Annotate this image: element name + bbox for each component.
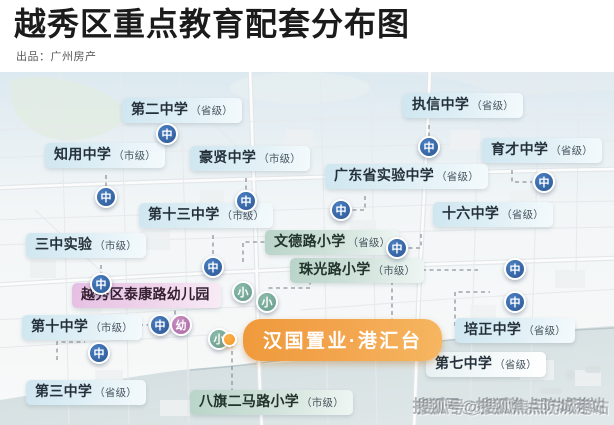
marker-glyph: 中 <box>510 294 521 310</box>
school-name: 培正中学 <box>464 321 521 337</box>
marker-glyph: 小 <box>238 284 249 300</box>
school-name: 执信中学 <box>412 96 469 112</box>
label-school-4[interactable]: 育才中学（省级） <box>482 138 602 163</box>
label-school-2[interactable]: 豪贤中学（市级） <box>190 146 310 171</box>
label-school-13[interactable]: 培正中学（省级） <box>455 318 575 343</box>
marker-middle-school[interactable]: 中 <box>90 273 112 295</box>
marker-primary-school[interactable]: 小 <box>232 281 254 303</box>
label-school-10[interactable]: 珠光路小学（市级） <box>290 258 424 283</box>
school-name: 十六中学 <box>442 205 499 221</box>
label-school-3[interactable]: 执信中学（省级） <box>403 93 523 118</box>
marker-primary-school[interactable]: 小 <box>256 291 278 313</box>
school-level: （市级） <box>301 397 344 409</box>
label-school-8[interactable]: 三中实验（市级） <box>26 233 146 258</box>
marker-estate-dot[interactable] <box>222 332 237 347</box>
header: 越秀区重点教育配套分布图 出品：广州房产 <box>0 0 614 72</box>
marker-glyph: 中 <box>155 317 166 333</box>
school-name: 知用中学 <box>54 146 111 162</box>
marker-middle-school[interactable]: 中 <box>533 171 555 193</box>
marker-middle-school[interactable]: 中 <box>235 190 257 212</box>
school-name: 文德路小学 <box>274 233 346 249</box>
marker-middle-school[interactable]: 中 <box>504 258 526 280</box>
marker-glyph: 中 <box>510 261 521 277</box>
school-level: （省级） <box>550 145 593 157</box>
school-level: （省级） <box>348 237 391 249</box>
school-name: 珠光路小学 <box>299 261 371 277</box>
school-level: （市级） <box>258 153 301 165</box>
estate-label: 汉国置业·港汇台 <box>263 331 422 352</box>
marker-middle-school[interactable]: 中 <box>418 136 440 158</box>
marker-glyph: 中 <box>208 259 219 275</box>
marker-glyph: 中 <box>336 202 347 218</box>
label-school-9[interactable]: 文德路小学（省级） <box>265 230 399 255</box>
school-level: （市级） <box>113 150 156 162</box>
label-school-14[interactable]: 第七中学（省级） <box>426 352 546 377</box>
label-school-15[interactable]: 第三中学（省级） <box>26 380 146 405</box>
marker-middle-school[interactable]: 中 <box>330 199 352 221</box>
page-title: 越秀区重点教育配套分布图 <box>14 4 410 44</box>
school-level: （省级） <box>523 325 566 337</box>
map-canvas[interactable]: 第二中学（省级） 知用中学（市级） 豪贤中学（市级） 执信中学（省级） 育才中学… <box>0 70 614 425</box>
school-name: 第二中学 <box>131 101 188 117</box>
label-school-5[interactable]: 广东省实验中学（省级） <box>325 164 488 189</box>
marker-middle-school[interactable]: 中 <box>386 237 408 259</box>
marker-glyph: 中 <box>94 345 105 361</box>
label-school-0[interactable]: 第二中学（省级） <box>122 98 242 123</box>
school-level: （市级） <box>94 240 137 252</box>
marker-glyph: 中 <box>96 276 107 292</box>
marker-glyph: 中 <box>101 189 112 205</box>
marker-glyph: 中 <box>539 174 550 190</box>
marker-middle-school[interactable]: 中 <box>95 186 117 208</box>
school-level: （市级） <box>373 265 416 277</box>
school-level: （省级） <box>436 171 479 183</box>
map-infographic: 越秀区重点教育配套分布图 出品：广州房产 <box>0 0 614 425</box>
marker-middle-school[interactable]: 中 <box>156 123 178 145</box>
school-name: 第十三中学 <box>148 206 220 222</box>
school-level: （省级） <box>494 359 537 371</box>
label-school-1[interactable]: 知用中学（市级） <box>45 143 165 168</box>
marker-middle-school[interactable]: 中 <box>504 291 526 313</box>
marker-glyph: 小 <box>262 294 273 310</box>
marker-glyph: 中 <box>162 126 173 142</box>
page-subtitle: 出品：广州房产 <box>16 48 97 64</box>
school-name: 育才中学 <box>491 141 548 157</box>
marker-glyph: 幼 <box>176 317 187 333</box>
watermark-ghost: 搜狐号@搜狐焦点防城港站 <box>416 393 608 418</box>
label-school-6[interactable]: 十六中学（省级） <box>433 202 553 227</box>
marker-middle-school[interactable]: 中 <box>149 314 171 336</box>
school-name: 第七中学 <box>435 355 492 371</box>
watermark: 搜狐号@搜狐焦点防城港站 搜狐号@搜狐焦点防城港站 <box>412 392 604 417</box>
school-level: （省级） <box>190 105 233 117</box>
school-level: （省级） <box>94 387 137 399</box>
school-level: （市级） <box>90 322 133 334</box>
school-level: （省级） <box>501 209 544 221</box>
marker-kindergarten[interactable]: 幼 <box>170 314 192 336</box>
label-school-12[interactable]: 第十中学（市级） <box>22 315 142 340</box>
school-name: 广东省实验中学 <box>334 167 434 183</box>
school-name: 豪贤中学 <box>199 149 256 165</box>
marker-middle-school[interactable]: 中 <box>88 342 110 364</box>
school-name: 第三中学 <box>35 383 92 399</box>
school-name: 三中实验 <box>35 236 92 252</box>
label-school-16[interactable]: 八旗二马路小学（市级） <box>190 390 353 415</box>
school-level: （省级） <box>471 100 514 112</box>
estate-highlight[interactable]: 汉国置业·港汇台 <box>243 319 442 361</box>
school-name: 八旗二马路小学 <box>199 393 299 409</box>
marker-glyph: 中 <box>241 193 252 209</box>
marker-middle-school[interactable]: 中 <box>202 256 224 278</box>
school-name: 第十中学 <box>31 318 88 334</box>
marker-glyph: 中 <box>424 139 435 155</box>
marker-glyph: 中 <box>392 240 403 256</box>
